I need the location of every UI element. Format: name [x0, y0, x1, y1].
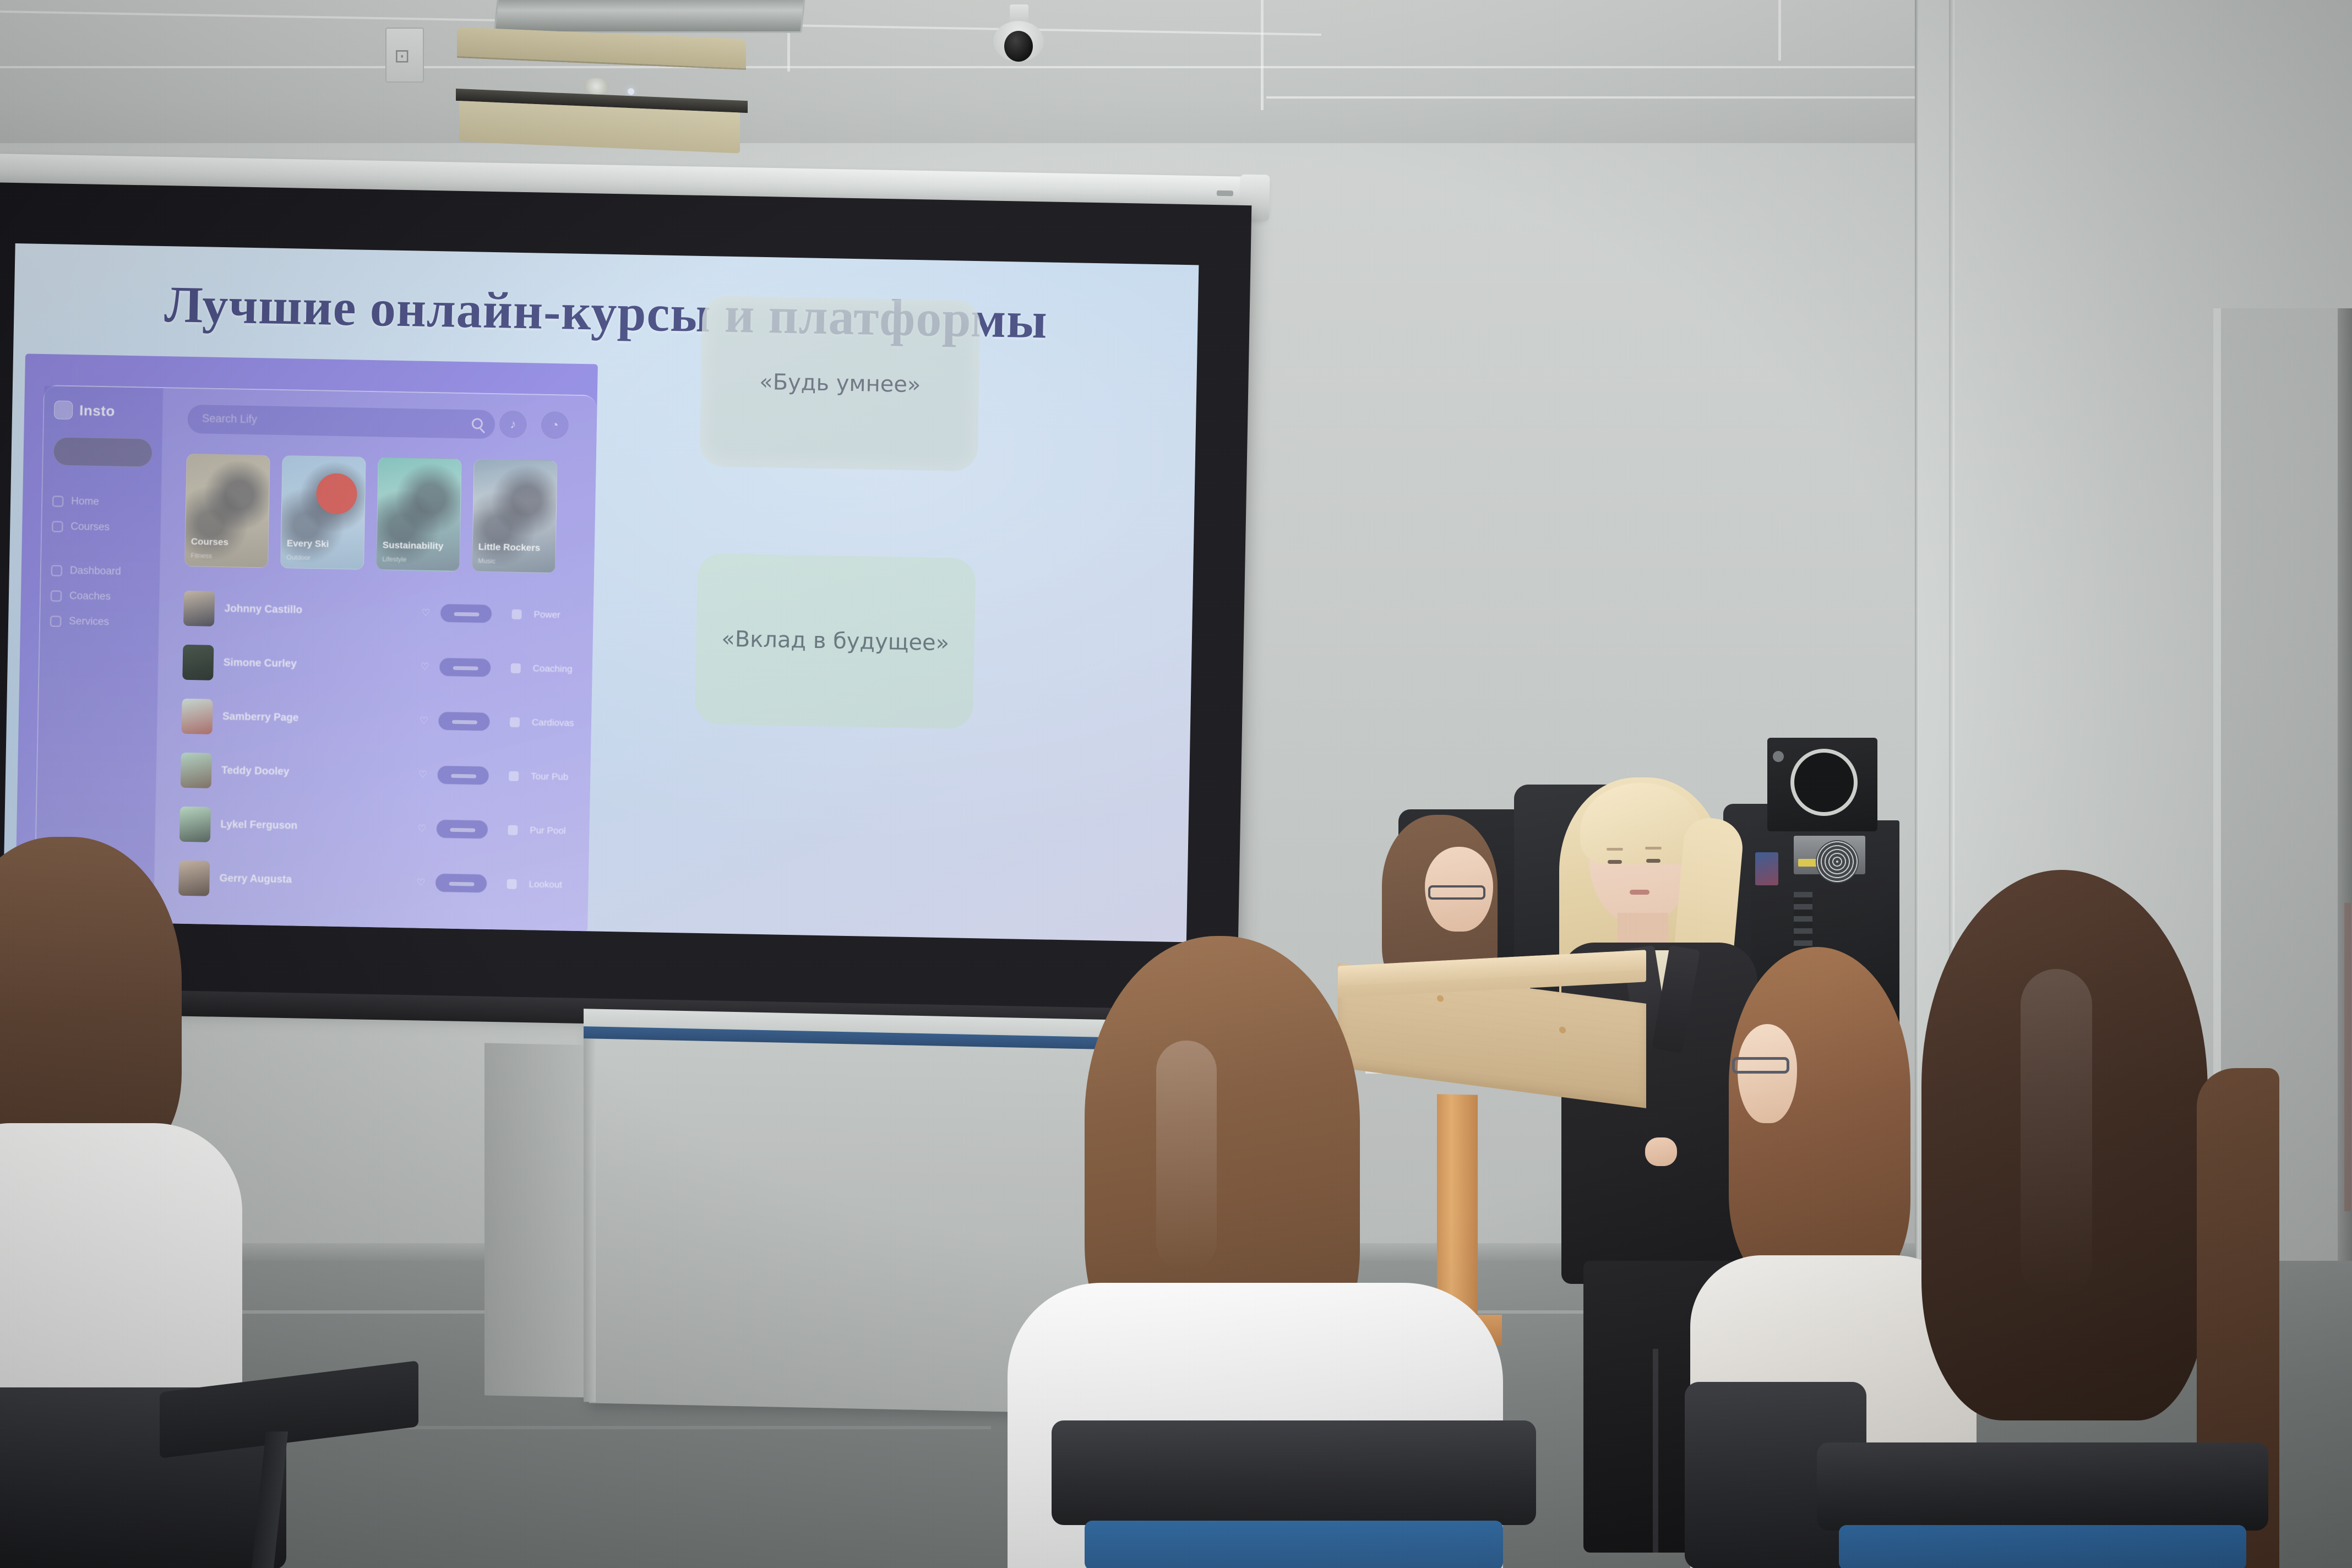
sidebar-item-label: Dashboard — [70, 565, 121, 578]
list-item[interactable]: Johnny Castillo ♡ — [183, 581, 493, 641]
star-icon — [511, 663, 521, 673]
classroom-photo-scene: ⊡ Лучшие онлайн-курсы и платформы — [0, 0, 2352, 1568]
sidebar-item-label: Services — [69, 616, 109, 628]
list-item-name: Teddy Dooley — [221, 765, 290, 777]
avatar — [182, 645, 214, 680]
notifications-button[interactable]: ♪ — [498, 410, 527, 439]
mockup-category-list: Power Coaching Cardiovas — [507, 587, 598, 913]
heart-icon[interactable]: ♡ — [420, 715, 429, 726]
course-card[interactable]: Every Ski Outdoor — [280, 455, 366, 570]
mockup-brand-label: Insto — [79, 402, 115, 420]
card-title: Courses — [191, 536, 263, 548]
category-item[interactable]: Tour Pub — [508, 749, 598, 805]
heart-icon[interactable]: ♡ — [417, 823, 427, 834]
category-label: Tour Pub — [531, 771, 568, 782]
sidebar-item-label: Courses — [70, 521, 110, 533]
category-item[interactable]: Lookout — [507, 857, 598, 913]
avatar — [181, 699, 213, 734]
sidebar-item-home[interactable]: Home — [52, 488, 157, 515]
list-item[interactable]: Teddy Dooley ♡ — [180, 743, 489, 803]
star-icon — [508, 825, 518, 835]
door-reveal — [2338, 308, 2352, 1398]
user-icon — [51, 590, 62, 601]
home-icon — [52, 496, 63, 507]
card-title: Every Ski — [287, 538, 358, 550]
tag-icon — [50, 616, 61, 627]
search-icon[interactable] — [472, 418, 483, 429]
enroll-button[interactable] — [438, 711, 491, 731]
list-item-name: Lykel Ferguson — [220, 819, 297, 832]
card-subtitle: Fitness — [190, 552, 262, 560]
heart-icon[interactable]: ♡ — [418, 769, 428, 780]
list-item-name: Simone Curley — [224, 657, 297, 669]
slide-callout-box: «Вклад в будущее» — [695, 553, 976, 729]
sidebar-item-label: Coaches — [69, 590, 111, 603]
category-item[interactable]: Coaching — [510, 641, 598, 697]
sidebar-item-courses[interactable]: Courses — [52, 514, 157, 541]
chair — [1052, 1420, 1536, 1568]
list-item[interactable]: Samberry Page ♡ — [181, 689, 491, 749]
enroll-button[interactable] — [436, 819, 488, 839]
sidebar-item-coaches[interactable]: Coaches — [51, 583, 156, 610]
profile-button[interactable]: ◔ — [540, 411, 569, 440]
card-subtitle: Lifestyle — [382, 555, 454, 564]
chair — [1817, 1442, 2268, 1568]
sidebar-item-services[interactable]: Services — [50, 608, 155, 635]
speaker-port-icon — [1790, 749, 1858, 816]
bell-icon: ♪ — [510, 417, 516, 432]
category-label: Coaching — [533, 663, 573, 674]
card-title: Sustainability — [383, 540, 454, 552]
mockup-card-row: Courses Fitness Every Ski Outdoor — [184, 454, 558, 573]
slide-callout-box: «Будь умнее» — [700, 296, 981, 471]
wall-socket-plate: ⊡ — [385, 28, 424, 83]
enroll-button[interactable] — [437, 765, 489, 785]
category-label: Lookout — [529, 879, 562, 890]
search-placeholder: Search Lify — [202, 412, 257, 426]
security-camera-icon — [986, 4, 1052, 68]
avatar: ◔ — [551, 418, 559, 432]
mockup-nav-list: Home Courses Dashboard — [50, 488, 157, 635]
card-title: Little Rockers — [478, 542, 550, 554]
category-label: Pur Pool — [530, 825, 566, 836]
mockup-cta-button[interactable] — [53, 437, 153, 467]
heart-icon[interactable]: ♡ — [421, 607, 431, 618]
air-conditioner-icon — [451, 27, 752, 156]
sidebar-item-dashboard[interactable]: Dashboard — [51, 558, 156, 585]
course-card[interactable]: Little Rockers Music — [472, 459, 558, 573]
category-label: Cardiovas — [532, 717, 574, 728]
mockup-logo: Insto — [54, 400, 115, 420]
bolt-icon — [511, 609, 521, 619]
door-frame-strip — [2344, 903, 2351, 1211]
heart-icon[interactable]: ♡ — [420, 661, 429, 672]
fan-grille-icon — [1816, 840, 1859, 883]
heart-icon[interactable]: ♡ — [416, 876, 426, 888]
sidebar-item-label: Home — [71, 496, 99, 508]
enroll-button[interactable] — [435, 873, 487, 893]
star-icon — [507, 879, 516, 889]
grid-icon — [51, 565, 62, 576]
category-item[interactable]: Pur Pool — [507, 803, 597, 859]
course-card[interactable]: Sustainability Lifestyle — [376, 457, 462, 571]
category-label: Power — [533, 609, 560, 620]
slide-title: Лучшие онлайн-курсы и платформы — [14, 272, 1199, 353]
category-item[interactable]: Power — [511, 587, 598, 643]
card-subtitle: Outdoor — [286, 553, 358, 562]
ceiling-vent — [493, 0, 805, 33]
subwoofer-icon — [1767, 738, 1877, 831]
book-icon — [52, 521, 63, 532]
category-item[interactable]: Cardiovas — [509, 695, 598, 751]
avatar — [183, 591, 215, 627]
list-item[interactable]: Simone Curley ♡ — [182, 635, 492, 695]
star-icon — [510, 717, 520, 727]
avatar — [181, 753, 212, 788]
glasses-icon — [1732, 1057, 1789, 1074]
star-icon — [509, 771, 519, 781]
list-item-name: Johnny Castillo — [224, 603, 302, 616]
search-input[interactable]: Search Lify — [187, 404, 496, 439]
logo-mark-icon — [54, 400, 73, 420]
enroll-button[interactable] — [440, 603, 492, 623]
enroll-button[interactable] — [439, 657, 491, 677]
course-card[interactable]: Courses Fitness — [184, 454, 270, 568]
list-item-name: Samberry Page — [222, 711, 299, 724]
card-subtitle: Music — [478, 557, 549, 566]
glasses-icon — [1428, 885, 1485, 900]
